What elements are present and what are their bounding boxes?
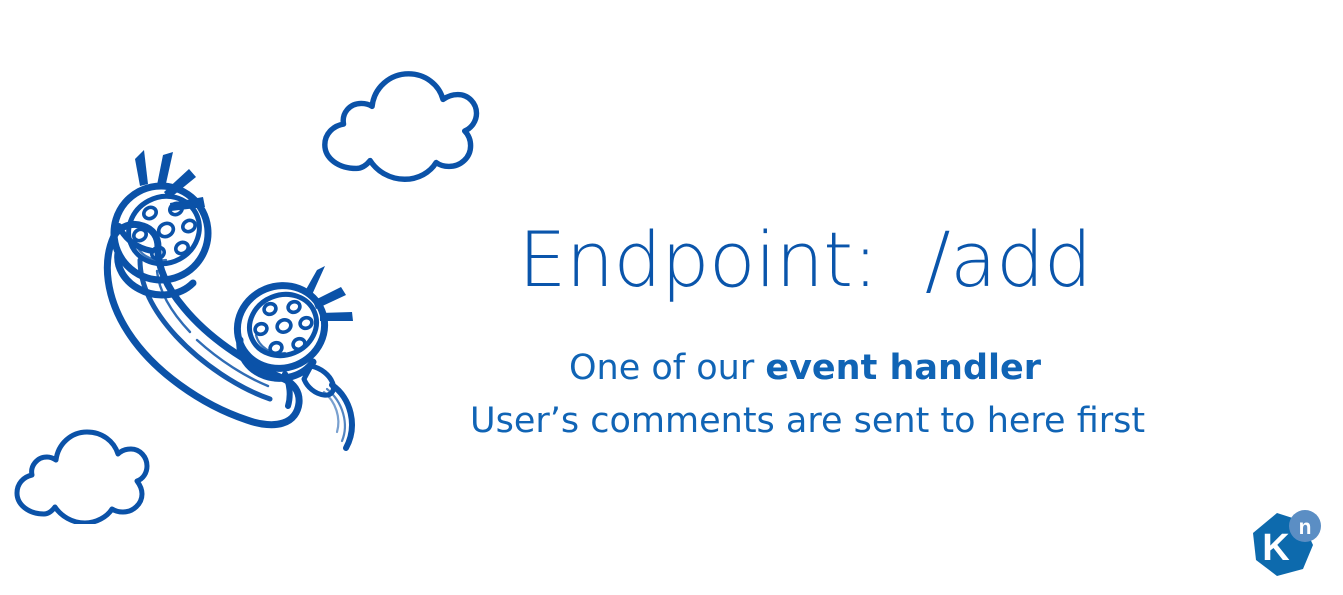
cloud-outline-top (316, 66, 482, 184)
logo-letter-n: n (1299, 516, 1312, 539)
page-title: Endpoint: /add (470, 222, 1140, 298)
cloud-outline-bottom (8, 424, 150, 524)
ringing-telephone-handset-illustration (62, 140, 378, 460)
logo-letter-k: K (1262, 527, 1290, 569)
subtitle-line-1: One of our event handler (470, 342, 1140, 395)
slide-text-block: Endpoint: /add One of our event handler … (470, 222, 1140, 448)
subtitle-line-1-prefix: One of our (569, 348, 765, 388)
kn-logo: K n (1247, 507, 1323, 583)
slide-canvas: Endpoint: /add One of our event handler … (0, 0, 1343, 595)
subtitle-line-1-emphasis: event handler (765, 348, 1041, 388)
subtitle-line-2: User’s comments are sent to here first (470, 395, 1140, 448)
